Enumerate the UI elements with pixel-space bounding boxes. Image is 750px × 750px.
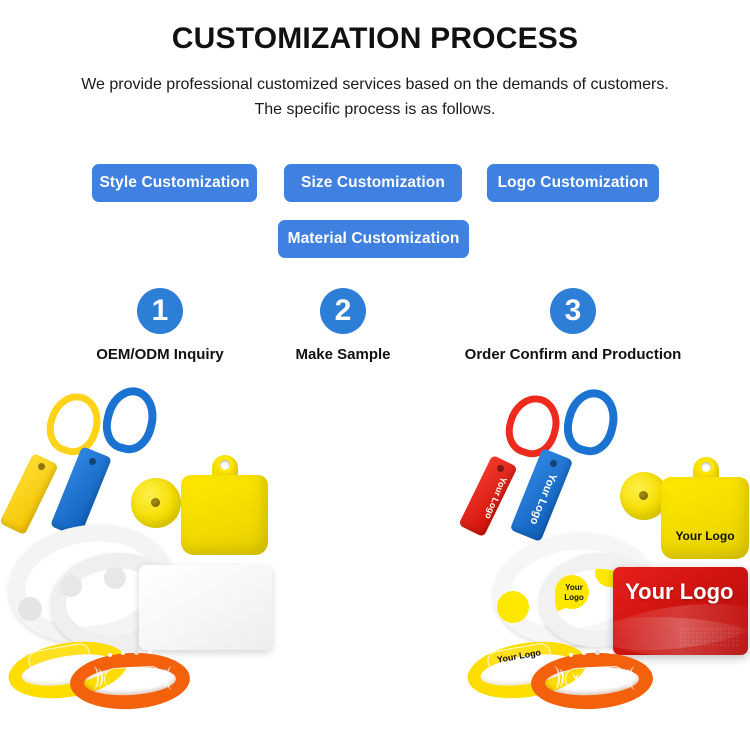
- option-pill-logo[interactable]: Logo Customization: [487, 164, 659, 202]
- subtitle-line-1: We provide professional customized servi…: [0, 72, 750, 97]
- step-number-badge-3: 3: [550, 288, 596, 334]
- yellow-ear-tag-button: [131, 478, 181, 528]
- process-step-1: 1 OEM/ODM Inquiry: [60, 288, 260, 363]
- ear-tag-logo: Your Logo: [661, 529, 749, 543]
- page-title: CUSTOMIZATION PROCESS: [0, 22, 750, 56]
- step-number-badge-1: 1: [137, 288, 183, 334]
- red-card-logo: Your Logo: [625, 579, 733, 605]
- process-step-3: 3 Order Confirm and Production: [428, 288, 718, 363]
- customization-process-page: CUSTOMIZATION PROCESS We provide profess…: [0, 0, 750, 750]
- option-pill-style[interactable]: Style Customization: [92, 164, 257, 202]
- step-number-badge-2: 2: [320, 288, 366, 334]
- subtitle-line-2: The specific process is as follows.: [0, 97, 750, 122]
- step-label-2: Make Sample: [258, 346, 428, 363]
- step-label-3: Order Confirm and Production: [428, 346, 718, 363]
- red-pvc-card: Your Logo: [613, 567, 748, 655]
- ear-tag-pin: [639, 491, 648, 500]
- ear-tag-pin: [151, 498, 160, 507]
- process-step-2: 2 Make Sample: [258, 288, 428, 363]
- blank-products-group: [0, 385, 300, 750]
- option-pill-material[interactable]: Material Customization: [278, 220, 469, 258]
- paper-wristband-logo: Your Logo: [557, 583, 591, 603]
- option-pill-size[interactable]: Size Customization: [284, 164, 462, 202]
- step-label-1: OEM/ODM Inquiry: [60, 346, 260, 363]
- product-showcase: Your Logo Your Design Your Material Your…: [0, 385, 750, 750]
- white-pvc-card: [139, 565, 272, 650]
- page-subtitle: We provide professional customized servi…: [0, 72, 750, 122]
- branded-products-group: Your Logo Your Logo Your Logo: [465, 385, 750, 750]
